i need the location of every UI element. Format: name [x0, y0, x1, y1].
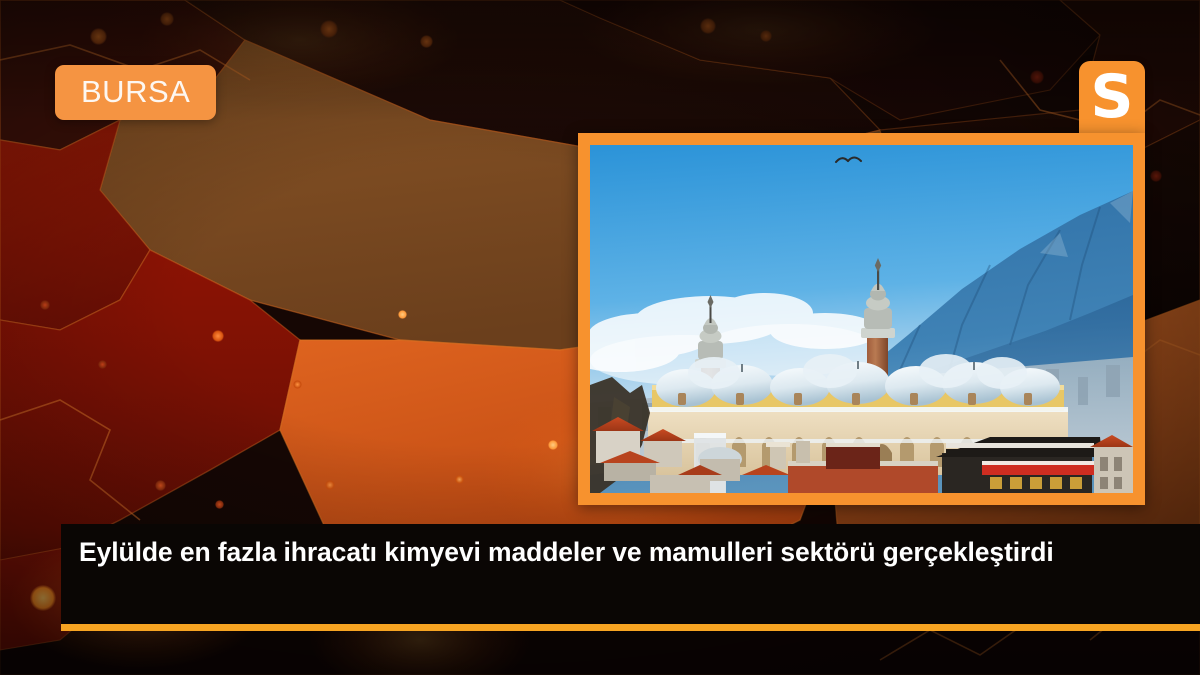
- headline-text: Eylülde en fazla ihracatı kimyevi maddel…: [79, 537, 1182, 568]
- news-photo: [590, 145, 1133, 493]
- headline-box: Eylülde en fazla ihracatı kimyevi maddel…: [61, 524, 1200, 625]
- brand-s-logo[interactable]: S: [1079, 61, 1145, 135]
- news-card: BURSA S: [0, 0, 1200, 675]
- photo-frame: [578, 133, 1145, 505]
- photo-illustration: [590, 145, 1133, 493]
- city-badge: BURSA: [55, 65, 216, 120]
- brand-logo-letter: S: [1090, 67, 1133, 127]
- accent-bar: [61, 624, 1200, 631]
